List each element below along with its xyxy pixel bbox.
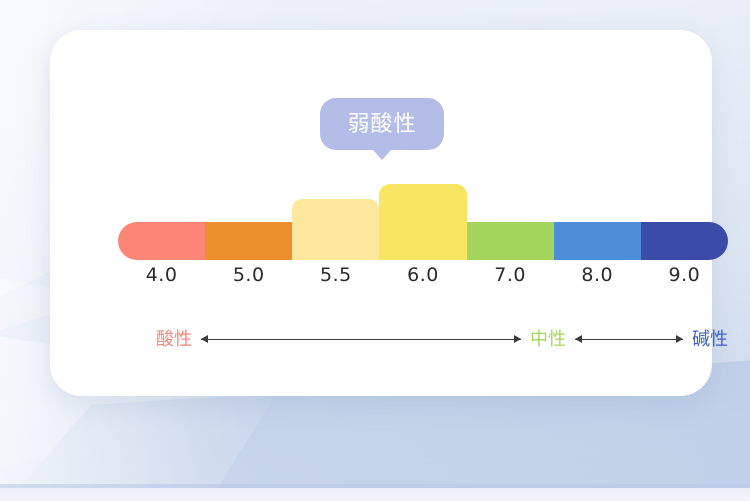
ph-scale-card: 弱酸性 4.0 5.0 5.5 6.0 7.0 8.0 9.0 bbox=[50, 30, 712, 396]
ph-bar bbox=[118, 222, 728, 260]
ph-result-label: 弱酸性 bbox=[347, 113, 416, 135]
ph-tick-5-0: 5.0 bbox=[205, 264, 292, 286]
legend-label-neutral: 中性 bbox=[530, 330, 566, 348]
ph-tick-8-0: 8.0 bbox=[554, 264, 641, 286]
ph-result-bubble: 弱酸性 bbox=[320, 98, 444, 150]
callout-tail-icon bbox=[373, 150, 391, 160]
ph-tick-4-0: 4.0 bbox=[118, 264, 205, 286]
ph-result-callout: 弱酸性 bbox=[320, 98, 444, 150]
ph-segment-5-5[interactable] bbox=[292, 199, 379, 260]
ph-tick-6-0: 6.0 bbox=[379, 264, 466, 286]
page-background: 弱酸性 4.0 5.0 5.5 6.0 7.0 8.0 9.0 bbox=[0, 0, 750, 501]
background-seam bbox=[0, 484, 750, 489]
background-bottom-strip bbox=[0, 488, 750, 501]
ph-scale bbox=[118, 178, 728, 260]
ph-tick-labels: 4.0 5.0 5.5 6.0 7.0 8.0 9.0 bbox=[118, 264, 728, 286]
ph-tick-9-0: 9.0 bbox=[641, 264, 728, 286]
ph-tick-5-5: 5.5 bbox=[292, 264, 379, 286]
ph-segment-7-0[interactable] bbox=[467, 222, 554, 260]
ph-segment-8-0[interactable] bbox=[554, 222, 641, 260]
ph-segment-9-0[interactable] bbox=[641, 222, 728, 260]
legend-label-acidic: 酸性 bbox=[156, 330, 192, 348]
double-headed-arrow-icon-alkaline-range bbox=[575, 339, 683, 340]
ph-segment-6-0[interactable] bbox=[379, 184, 466, 260]
ph-segment-5-0[interactable] bbox=[205, 222, 292, 260]
legend-label-alkaline: 碱性 bbox=[692, 330, 728, 348]
double-headed-arrow-icon-acidic-range bbox=[201, 339, 521, 340]
ph-legend: 酸性 中性 碱性 bbox=[118, 324, 728, 354]
ph-segment-4-0[interactable] bbox=[118, 222, 205, 260]
ph-tick-7-0: 7.0 bbox=[467, 264, 554, 286]
